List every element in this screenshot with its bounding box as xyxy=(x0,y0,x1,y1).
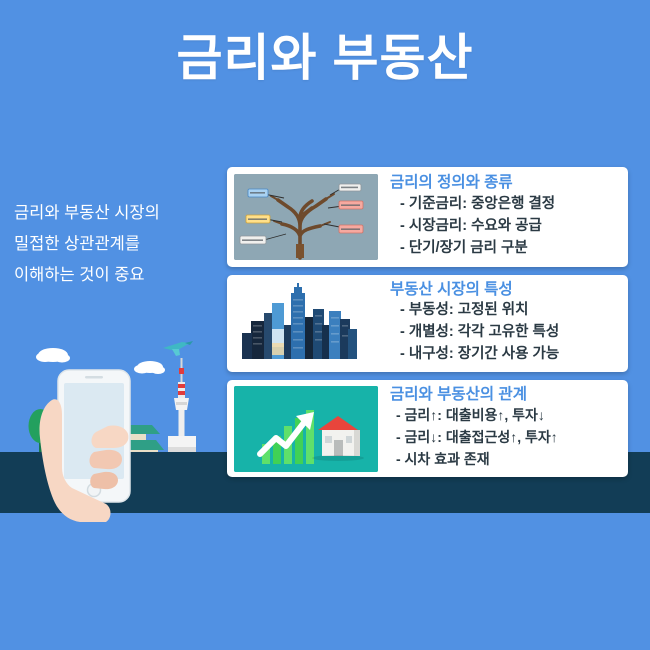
card-bullet-list: - 부동성: 고정된 위치 - 개별성: 각각 고유한 특성 - 내구성: 장기… xyxy=(382,299,620,365)
card-bullet: - 금리↓: 대출접근성↑, 투자↑ xyxy=(382,426,620,448)
content-card-list: 금리의 정의와 종류 - 기준금리: 중앙은행 결정 - 시장금리: 수요와 공… xyxy=(227,167,628,485)
card-body: 부동산 시장의 특성 - 부동성: 고정된 위치 - 개별성: 각각 고유한 특… xyxy=(378,282,620,366)
bare-tree-mindmap-thumbnail xyxy=(234,174,378,260)
hand-holding-smartphone-illustration xyxy=(0,330,232,530)
intro-line-1: 금리와 부동산 시장의 xyxy=(14,198,219,229)
infographic-poster: 금리와 부동산 금리와 부동산 시장의 밀접한 상관관계를 이해하는 것이 중요 xyxy=(0,0,650,650)
card-bullet: - 단기/장기 금리 구분 xyxy=(382,237,620,259)
cloud-icon xyxy=(134,361,165,374)
intro-line-3: 이해하는 것이 중요 xyxy=(14,260,219,291)
content-card[interactable]: 금리와 부동산의 관계 - 금리↑: 대출비용↑, 투자↓ - 금리↓: 대출접… xyxy=(227,380,628,477)
n-seoul-tower-icon xyxy=(168,358,196,452)
card-bullet: - 개별성: 각각 고유한 특성 xyxy=(382,321,620,343)
cloud-icon xyxy=(36,348,70,363)
content-card[interactable]: 금리의 정의와 종류 - 기준금리: 중앙은행 결정 - 시장금리: 수요와 공… xyxy=(227,167,628,267)
city-skyline-thumbnail xyxy=(234,281,378,367)
intro-paragraph: 금리와 부동산 시장의 밀접한 상관관계를 이해하는 것이 중요 xyxy=(14,198,219,291)
card-bullet: - 기준금리: 중앙은행 결정 xyxy=(382,193,620,215)
intro-line-2: 밀접한 상관관계를 xyxy=(14,229,219,260)
card-bullet-list: - 기준금리: 중앙은행 결정 - 시장금리: 수요와 공급 - 단기/장기 금… xyxy=(382,193,620,259)
card-heading: 금리와 부동산의 관계 xyxy=(390,387,620,403)
card-bullet: - 금리↑: 대출비용↑, 투자↓ xyxy=(382,404,620,426)
content-card[interactable]: 부동산 시장의 특성 - 부동성: 고정된 위치 - 개별성: 각각 고유한 특… xyxy=(227,275,628,372)
page-title: 금리와 부동산 xyxy=(0,30,650,86)
airplane-icon xyxy=(163,341,193,356)
card-body: 금리의 정의와 종류 - 기준금리: 중앙은행 결정 - 시장금리: 수요와 공… xyxy=(378,175,620,259)
growth-chart-house-thumbnail xyxy=(234,386,378,472)
card-bullet-list: - 금리↑: 대출비용↑, 투자↓ - 금리↓: 대출접근성↑, 투자↑ - 시… xyxy=(382,404,620,470)
card-heading: 금리의 정의와 종류 xyxy=(390,175,620,191)
card-bullet: - 시차 효과 존재 xyxy=(382,448,620,470)
card-bullet: - 시장금리: 수요와 공급 xyxy=(382,215,620,237)
card-bullet: - 내구성: 장기간 사용 가능 xyxy=(382,343,620,365)
card-heading: 부동산 시장의 특성 xyxy=(390,282,620,298)
card-body: 금리와 부동산의 관계 - 금리↑: 대출비용↑, 투자↓ - 금리↓: 대출접… xyxy=(378,387,620,470)
card-bullet: - 부동성: 고정된 위치 xyxy=(382,299,620,321)
